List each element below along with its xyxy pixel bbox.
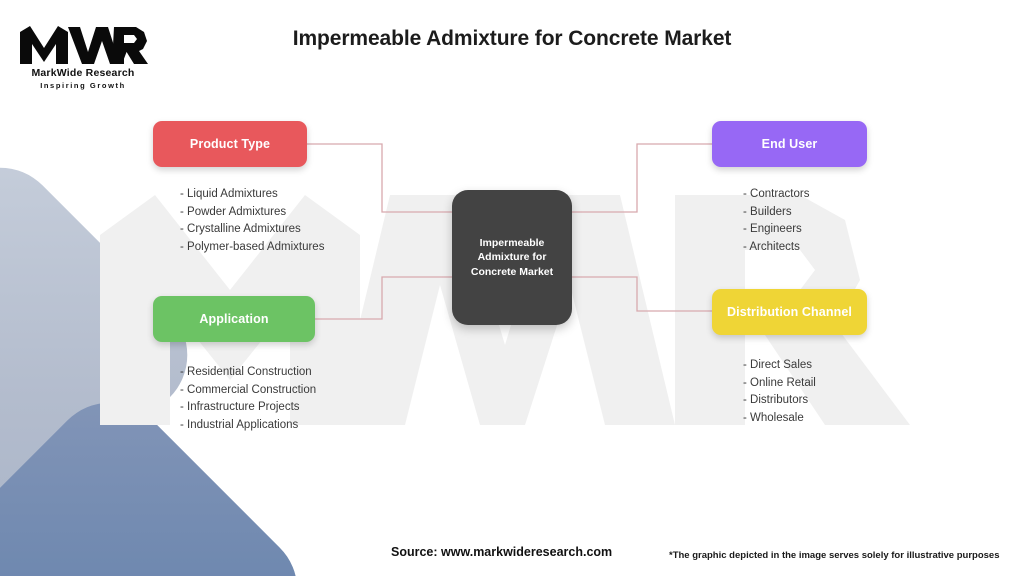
list-item: - Online Retail xyxy=(743,375,867,393)
list-item: - Builders xyxy=(743,204,867,222)
source-note: Source: www.markwideresearch.com xyxy=(391,545,612,559)
page-title: Impermeable Admixture for Concrete Marke… xyxy=(0,27,1024,51)
category-header-product-type[interactable]: Product Type xyxy=(153,121,307,167)
center-node-label: Impermeable Admixture for Concrete Marke… xyxy=(452,236,572,280)
list-item: - Polymer-based Admixtures xyxy=(180,239,324,257)
category-header-distribution-channel[interactable]: Distribution Channel xyxy=(712,289,867,335)
list-item: - Infrastructure Projects xyxy=(180,399,316,417)
list-item: - Commercial Construction xyxy=(180,382,316,400)
brand-name: MarkWide Research xyxy=(18,67,148,79)
connector-product-type xyxy=(307,144,452,212)
disclaimer-note: *The graphic depicted in the image serve… xyxy=(669,550,1000,561)
list-item: - Contractors xyxy=(743,186,867,204)
category-items-end-user: - Contractors - Builders - Engineers - A… xyxy=(743,186,867,256)
brand-tagline: Inspiring Growth xyxy=(18,81,148,90)
list-item: - Wholesale xyxy=(743,410,867,428)
slide-canvas: MarkWide Research Inspiring Growth Imper… xyxy=(0,0,1024,576)
category-end-user: End User - Contractors - Builders - Engi… xyxy=(712,121,867,256)
list-item: - Residential Construction xyxy=(180,364,316,382)
category-header-end-user[interactable]: End User xyxy=(712,121,867,167)
center-node[interactable]: Impermeable Admixture for Concrete Marke… xyxy=(452,190,572,325)
category-distribution-channel: Distribution Channel - Direct Sales - On… xyxy=(712,289,867,427)
category-items-product-type: - Liquid Admixtures - Powder Admixtures … xyxy=(180,186,324,256)
list-item: - Powder Admixtures xyxy=(180,204,324,222)
list-item: - Liquid Admixtures xyxy=(180,186,324,204)
connector-end-user xyxy=(572,144,712,212)
category-items-distribution-channel: - Direct Sales - Online Retail - Distrib… xyxy=(743,357,867,427)
list-item: - Crystalline Admixtures xyxy=(180,221,324,239)
list-item: - Industrial Applications xyxy=(180,417,316,435)
list-item: - Distributors xyxy=(743,392,867,410)
list-item: - Architects xyxy=(743,239,867,257)
category-items-application: - Residential Construction - Commercial … xyxy=(180,364,316,434)
category-header-application[interactable]: Application xyxy=(153,296,315,342)
category-application: Application - Residential Construction -… xyxy=(153,296,316,434)
connector-application xyxy=(315,277,452,319)
list-item: - Engineers xyxy=(743,221,867,239)
list-item: - Direct Sales xyxy=(743,357,867,375)
category-product-type: Product Type - Liquid Admixtures - Powde… xyxy=(153,121,324,256)
connector-distribution-channel xyxy=(572,277,712,311)
